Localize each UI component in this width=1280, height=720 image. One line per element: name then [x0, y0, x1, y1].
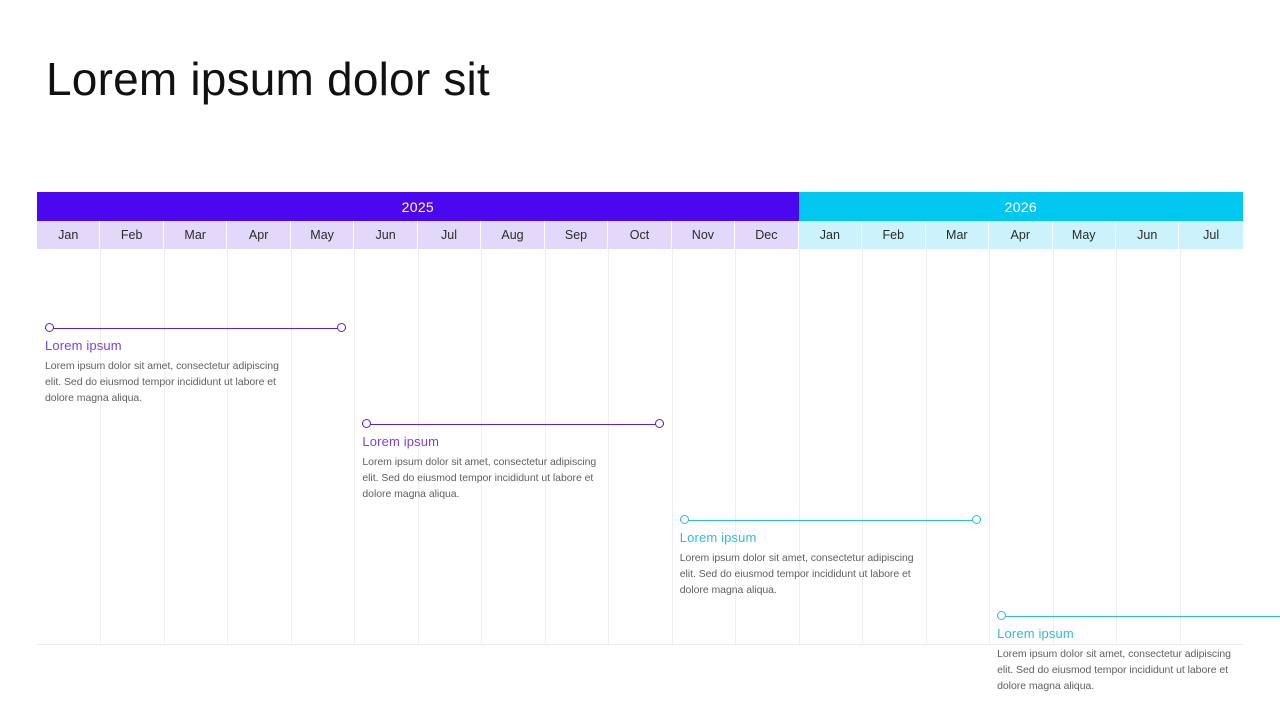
task-bar-line: [362, 424, 663, 425]
month-header-cell: Feb: [862, 221, 925, 249]
grid-column-line: [608, 249, 609, 644]
task-bar[interactable]: [680, 515, 981, 526]
task-bar[interactable]: [362, 419, 663, 430]
task-bar-line: [45, 328, 346, 329]
grid-column-line: [1116, 249, 1117, 644]
task-bar[interactable]: [997, 611, 1280, 622]
task-title: Lorem ipsum: [362, 434, 439, 449]
month-header-cell: Apr: [227, 221, 290, 249]
grid-column-line: [545, 249, 546, 644]
month-header-cell: Jun: [1116, 221, 1179, 249]
month-header-cell: Jun: [354, 221, 417, 249]
page-title: Lorem ipsum dolor sit: [46, 52, 490, 107]
month-header-cell: Jan: [799, 221, 862, 249]
task-description: Lorem ipsum dolor sit amet, consectetur …: [997, 646, 1237, 695]
task-end-handle-icon[interactable]: [972, 515, 981, 524]
grid-column-line: [291, 249, 292, 644]
grid-column-line: [354, 249, 355, 644]
month-header-cell: Dec: [735, 221, 798, 249]
year-header-row: 20252026: [37, 192, 1243, 221]
month-header-cell: Jul: [1179, 221, 1242, 249]
month-header-cell: Jan: [37, 221, 100, 249]
year-header-2025: 2025: [37, 192, 799, 221]
task-title: Lorem ipsum: [997, 626, 1074, 641]
task-start-handle-icon[interactable]: [362, 419, 371, 428]
task-title: Lorem ipsum: [45, 338, 122, 353]
timeline-grid-body: Lorem ipsumLorem ipsum dolor sit amet, c…: [37, 249, 1243, 645]
task-description: Lorem ipsum dolor sit amet, consectetur …: [45, 358, 285, 407]
year-label: 2026: [1005, 199, 1037, 215]
month-header-cell: Mar: [926, 221, 989, 249]
task-description: Lorem ipsum dolor sit amet, consectetur …: [362, 454, 602, 503]
task-start-handle-icon[interactable]: [45, 323, 54, 332]
grid-column-line: [926, 249, 927, 644]
month-header-cell: Mar: [164, 221, 227, 249]
task-end-handle-icon[interactable]: [655, 419, 664, 428]
year-header-2026: 2026: [799, 192, 1243, 221]
grid-column-line: [1180, 249, 1181, 644]
year-label: 2025: [402, 199, 434, 215]
month-header-cell: Sep: [545, 221, 608, 249]
grid-column-line: [1053, 249, 1054, 644]
task-end-handle-icon[interactable]: [337, 323, 346, 332]
month-header-cell: Jul: [418, 221, 481, 249]
task-title: Lorem ipsum: [680, 530, 757, 545]
month-header-cell: Aug: [481, 221, 544, 249]
task-bar-line: [997, 616, 1280, 617]
month-header-row: JanFebMarAprMayJunJulAugSepOctNovDecJanF…: [37, 221, 1243, 249]
month-header-cell: May: [291, 221, 354, 249]
grid-column-line: [100, 249, 101, 644]
grid-column-line: [989, 249, 990, 644]
task-description: Lorem ipsum dolor sit amet, consectetur …: [680, 550, 920, 599]
grid-column-line: [164, 249, 165, 644]
grid-column-line: [672, 249, 673, 644]
month-header-cell: Nov: [672, 221, 735, 249]
timeline-chart: 20252026 JanFebMarAprMayJunJulAugSepOctN…: [37, 192, 1243, 645]
task-start-handle-icon[interactable]: [680, 515, 689, 524]
month-header-cell: Oct: [608, 221, 671, 249]
month-header-cell: Feb: [100, 221, 163, 249]
month-header-cell: May: [1053, 221, 1116, 249]
grid-column-line: [481, 249, 482, 644]
task-bar[interactable]: [45, 323, 346, 334]
grid-column-line: [227, 249, 228, 644]
month-header-cell: Apr: [989, 221, 1052, 249]
task-bar-line: [680, 520, 981, 521]
task-start-handle-icon[interactable]: [997, 611, 1006, 620]
